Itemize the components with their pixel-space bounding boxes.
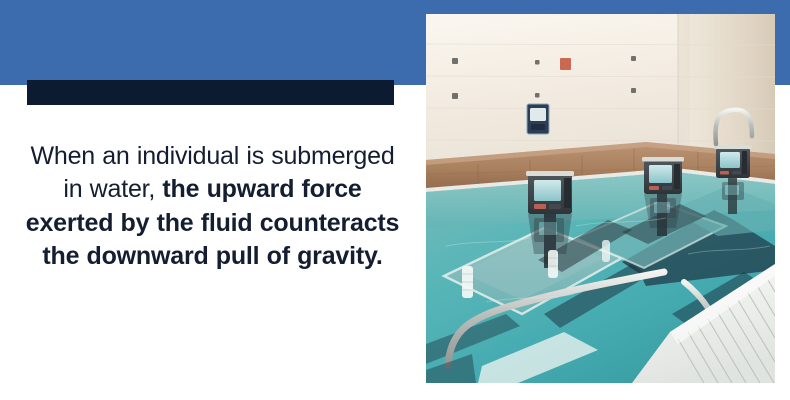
quote-card: When an individual is submerged in water… xyxy=(0,0,790,400)
pool-photograph xyxy=(426,14,775,383)
navy-accent-bar xyxy=(27,80,394,105)
quote-text-container: When an individual is submerged in water… xyxy=(0,140,425,273)
photo-sheen xyxy=(426,14,775,383)
quote-paragraph: When an individual is submerged in water… xyxy=(18,140,407,273)
